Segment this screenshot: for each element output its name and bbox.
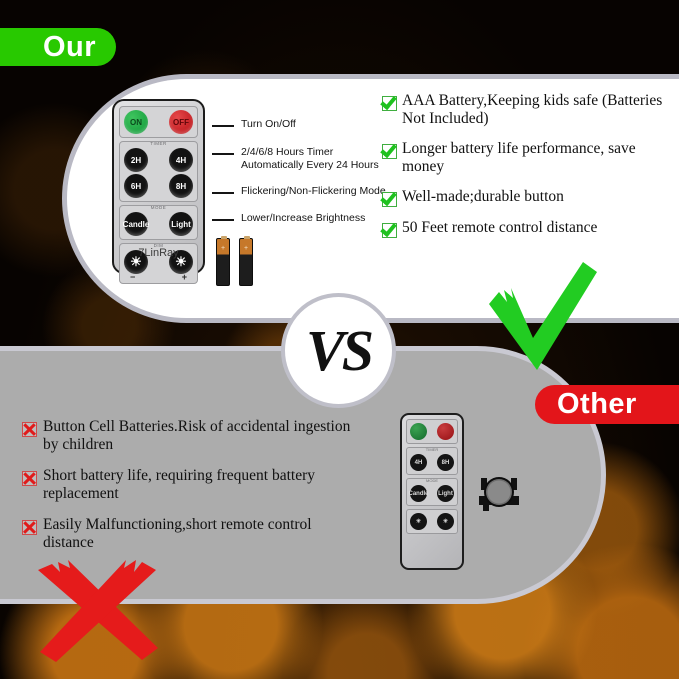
- cross-mark-icon: [34, 560, 162, 665]
- checkbox-checked-icon: [382, 96, 397, 111]
- battery-icon: [216, 238, 230, 286]
- checkbox-crossed-icon: [22, 471, 37, 486]
- callout-leader-line: [212, 219, 234, 221]
- other-remote-control: TIMER 4H 8H MODE Candle Light ☀ ☀: [400, 413, 464, 570]
- remote-minus-sign: −: [130, 274, 135, 280]
- other-remote-light-button[interactable]: Light: [437, 485, 454, 502]
- con-text: Short battery life, requiring frequent b…: [43, 467, 362, 503]
- feature-text: Well-made;durable button: [402, 188, 564, 206]
- checkbox-checked-icon: [382, 144, 397, 159]
- remote-timer-group: TIMER 2H 4H 6H 8H: [119, 141, 198, 202]
- callout-text-brightness: Lower/Increase Brightness: [241, 212, 365, 225]
- other-remote-dim-down-button[interactable]: ☀: [410, 513, 427, 530]
- other-badge: Other: [535, 385, 679, 424]
- list-item: Longer battery life performance, save mo…: [382, 140, 677, 176]
- remote-light-button[interactable]: Light: [169, 212, 193, 236]
- other-remote-8h-button[interactable]: 8H: [437, 454, 454, 471]
- vs-label: VS: [306, 322, 371, 380]
- comparison-infographic: ON OFF TIMER 2H 4H 6H 8H MODE Candle Lig…: [0, 0, 679, 679]
- list-item: 50 Feet remote control distance: [382, 219, 677, 238]
- feature-text: 50 Feet remote control distance: [402, 219, 597, 237]
- other-remote-mode-label: MODE: [407, 478, 457, 483]
- callout-leader-line: [212, 125, 234, 127]
- remote-on-button[interactable]: ON: [124, 110, 148, 134]
- check-mark-icon: [487, 262, 599, 372]
- coin-cell-battery-icon: [477, 472, 521, 516]
- other-remote-on-button[interactable]: [410, 423, 427, 440]
- remote-off-button[interactable]: OFF: [169, 110, 193, 134]
- callout-text-timer: 2/4/6/8 Hours TimerAutomatically Every 2…: [241, 146, 379, 171]
- checkbox-checked-icon: [382, 223, 397, 238]
- other-remote-off-button[interactable]: [437, 423, 454, 440]
- remote-mode-group: MODE Candle Light: [119, 205, 198, 240]
- other-remote-timer-label: TIMER: [407, 447, 457, 452]
- callout-text-mode: Flickering/Non-Flickering Mode: [241, 185, 386, 198]
- remote-power-group: ON OFF: [119, 106, 198, 138]
- our-badge: Our: [0, 28, 116, 66]
- callout-leader-line: [212, 153, 234, 155]
- remote-brand-label: 7LinRay: [114, 247, 203, 259]
- other-con-list: Button Cell Batteries.Risk of accidental…: [22, 418, 362, 565]
- remote-mode-label: MODE: [120, 205, 197, 210]
- callout-leader-line: [212, 192, 234, 194]
- remote-6h-button[interactable]: 6H: [124, 174, 148, 198]
- remote-2h-button[interactable]: 2H: [124, 148, 148, 172]
- checkbox-crossed-icon: [22, 422, 37, 437]
- our-feature-list: AAA Battery,Keeping kids safe (Batteries…: [382, 92, 677, 250]
- list-item: Button Cell Batteries.Risk of accidental…: [22, 418, 362, 454]
- checkbox-checked-icon: [382, 192, 397, 207]
- other-remote-power-group: [406, 419, 458, 444]
- feature-text: Longer battery life performance, save mo…: [402, 140, 677, 176]
- remote-4h-button[interactable]: 4H: [169, 148, 193, 172]
- callout-text-power: Turn On/Off: [241, 118, 296, 131]
- remote-plus-sign: +: [182, 274, 187, 280]
- other-remote-dim-group: ☀ ☀: [406, 509, 458, 534]
- other-remote-mode-group: MODE Candle Light: [406, 478, 458, 506]
- other-remote-timer-group: TIMER 4H 8H: [406, 447, 458, 475]
- remote-candle-button[interactable]: Candle: [124, 212, 148, 236]
- list-item: Short battery life, requiring frequent b…: [22, 467, 362, 503]
- list-item: Easily Malfunctioning,short remote contr…: [22, 516, 362, 552]
- list-item: AAA Battery,Keeping kids safe (Batteries…: [382, 92, 677, 128]
- other-remote-candle-button[interactable]: Candle: [410, 485, 427, 502]
- remote-timer-label: TIMER: [120, 141, 197, 146]
- vs-circle: VS: [281, 293, 396, 408]
- remote-8h-button[interactable]: 8H: [169, 174, 193, 198]
- checkbox-crossed-icon: [22, 520, 37, 535]
- battery-icon: [239, 238, 253, 286]
- feature-text: AAA Battery,Keeping kids safe (Batteries…: [402, 92, 677, 128]
- other-remote-4h-button[interactable]: 4H: [410, 454, 427, 471]
- list-item: Well-made;durable button: [382, 188, 677, 207]
- con-text: Button Cell Batteries.Risk of accidental…: [43, 418, 362, 454]
- our-remote-control: ON OFF TIMER 2H 4H 6H 8H MODE Candle Lig…: [112, 99, 205, 274]
- con-text: Easily Malfunctioning,short remote contr…: [43, 516, 362, 552]
- other-remote-dim-up-button[interactable]: ☀: [437, 513, 454, 530]
